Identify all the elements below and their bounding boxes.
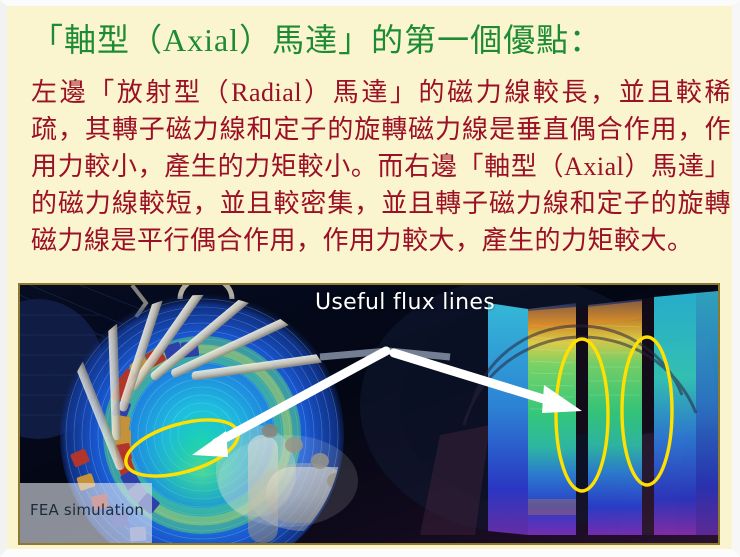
fea-figure: FEA simulation Useful flux lines — [18, 283, 720, 545]
page-title: 「軸型（Axial）馬達」的第一個優點： — [31, 18, 721, 62]
fea-simulation-label: FEA simulation — [30, 501, 144, 519]
slide-canvas: 「軸型（Axial）馬達」的第一個優點： 左邊「放射型（Radial）馬達」的磁… — [0, 0, 740, 557]
body-paragraph: 左邊「放射型（Radial）馬達」的磁力線較長，並且較稀疏，其轉子磁力線和定子的… — [31, 74, 731, 259]
